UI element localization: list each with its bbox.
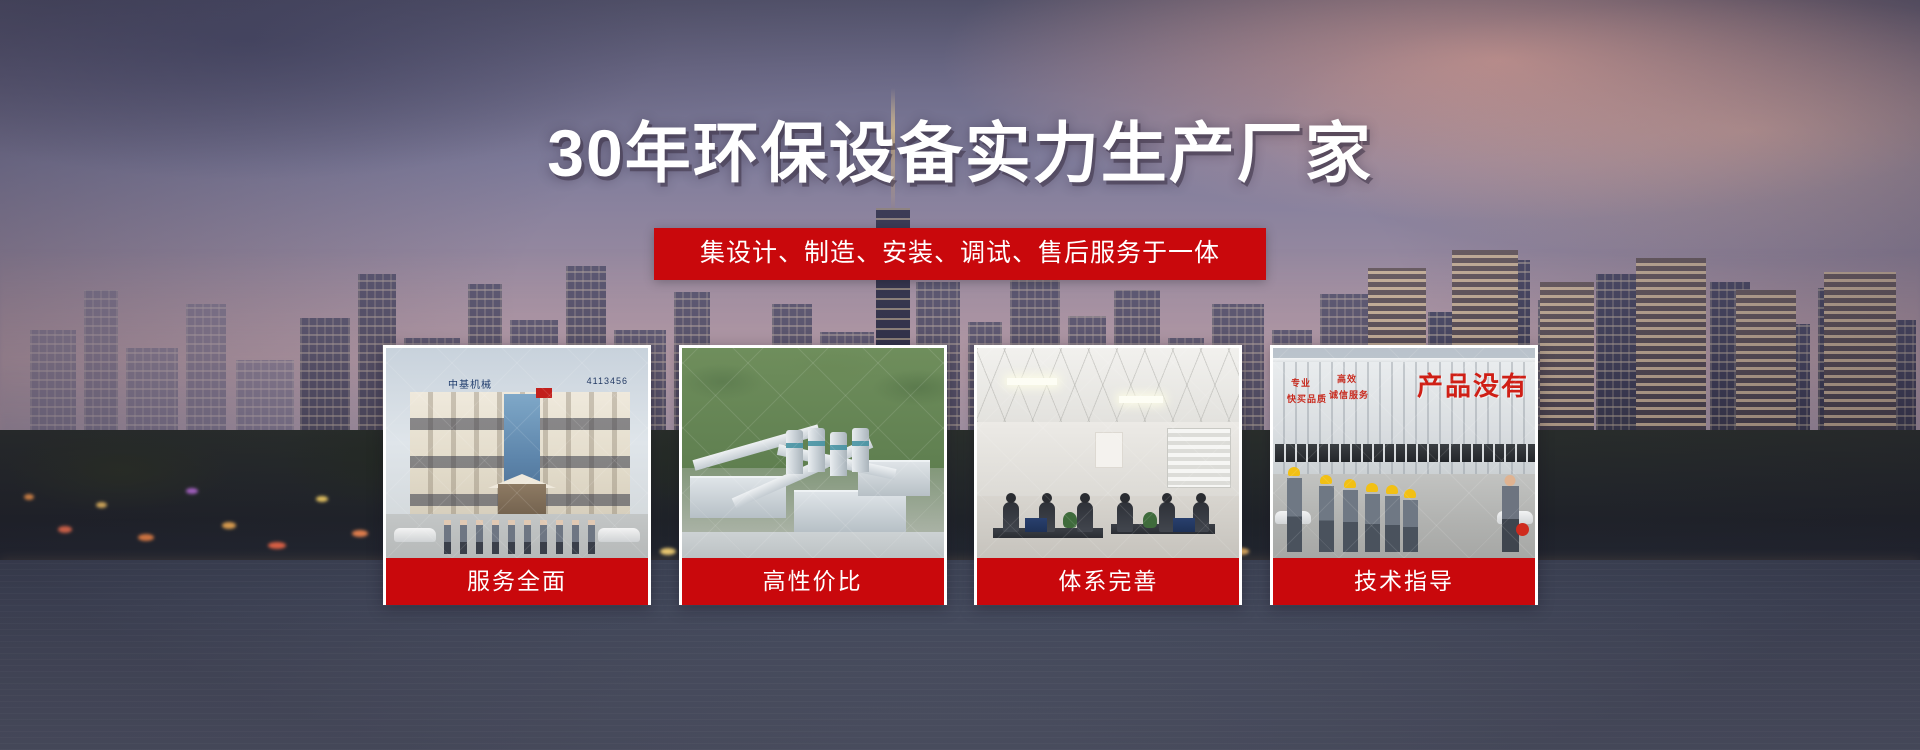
factory-wall-slogan-small-2: 快买品质 (1287, 394, 1327, 405)
factory-wall-slogan-small-1: 专业 (1291, 378, 1311, 389)
feature-card[interactable]: 体系完善 (974, 345, 1242, 605)
photo-company-sign: 中基机械 (448, 376, 492, 391)
banner-content: 30年环保设备实力生产厂家 集设计、制造、安装、调试、售后服务于一体 中基机械 … (0, 0, 1920, 750)
feature-card[interactable]: 高性价比 (679, 345, 947, 605)
factory-workers-photo: 产品没有 专业 快买品质 高效 诚信服务 (1273, 348, 1535, 558)
feature-card-label: 技术指导 (1273, 558, 1535, 605)
hero-banner: 30年环保设备实力生产厂家 集设计、制造、安装、调试、售后服务于一体 中基机械 … (0, 0, 1920, 750)
feature-card-label: 体系完善 (977, 558, 1239, 605)
banner-headline: 30年环保设备实力生产厂家 (0, 100, 1920, 196)
factory-wall-slogan-small-3: 高效 (1337, 374, 1357, 385)
aerial-plant-photo (682, 348, 944, 558)
feature-card[interactable]: 产品没有 专业 快买品质 高效 诚信服务 (1270, 345, 1538, 605)
banner-subtitle-wrap: 集设计、制造、安装、调试、售后服务于一体 (0, 228, 1920, 280)
factory-wall-slogan-small-4: 诚信服务 (1329, 390, 1369, 401)
factory-wall-slogan: 产品没有 (1417, 366, 1529, 403)
feature-card-label: 服务全面 (386, 558, 648, 605)
company-headquarters-photo: 中基机械 4113456 (386, 348, 648, 558)
photo-phone-number: 4113456 (587, 376, 628, 386)
office-interior-photo (977, 348, 1239, 558)
feature-card-label: 高性价比 (682, 558, 944, 605)
feature-card[interactable]: 中基机械 4113456 服务全面 (383, 345, 651, 605)
banner-subtitle-bar: 集设计、制造、安装、调试、售后服务于一体 (654, 228, 1266, 280)
feature-card-list: 中基机械 4113456 服务全面 (383, 345, 1538, 605)
